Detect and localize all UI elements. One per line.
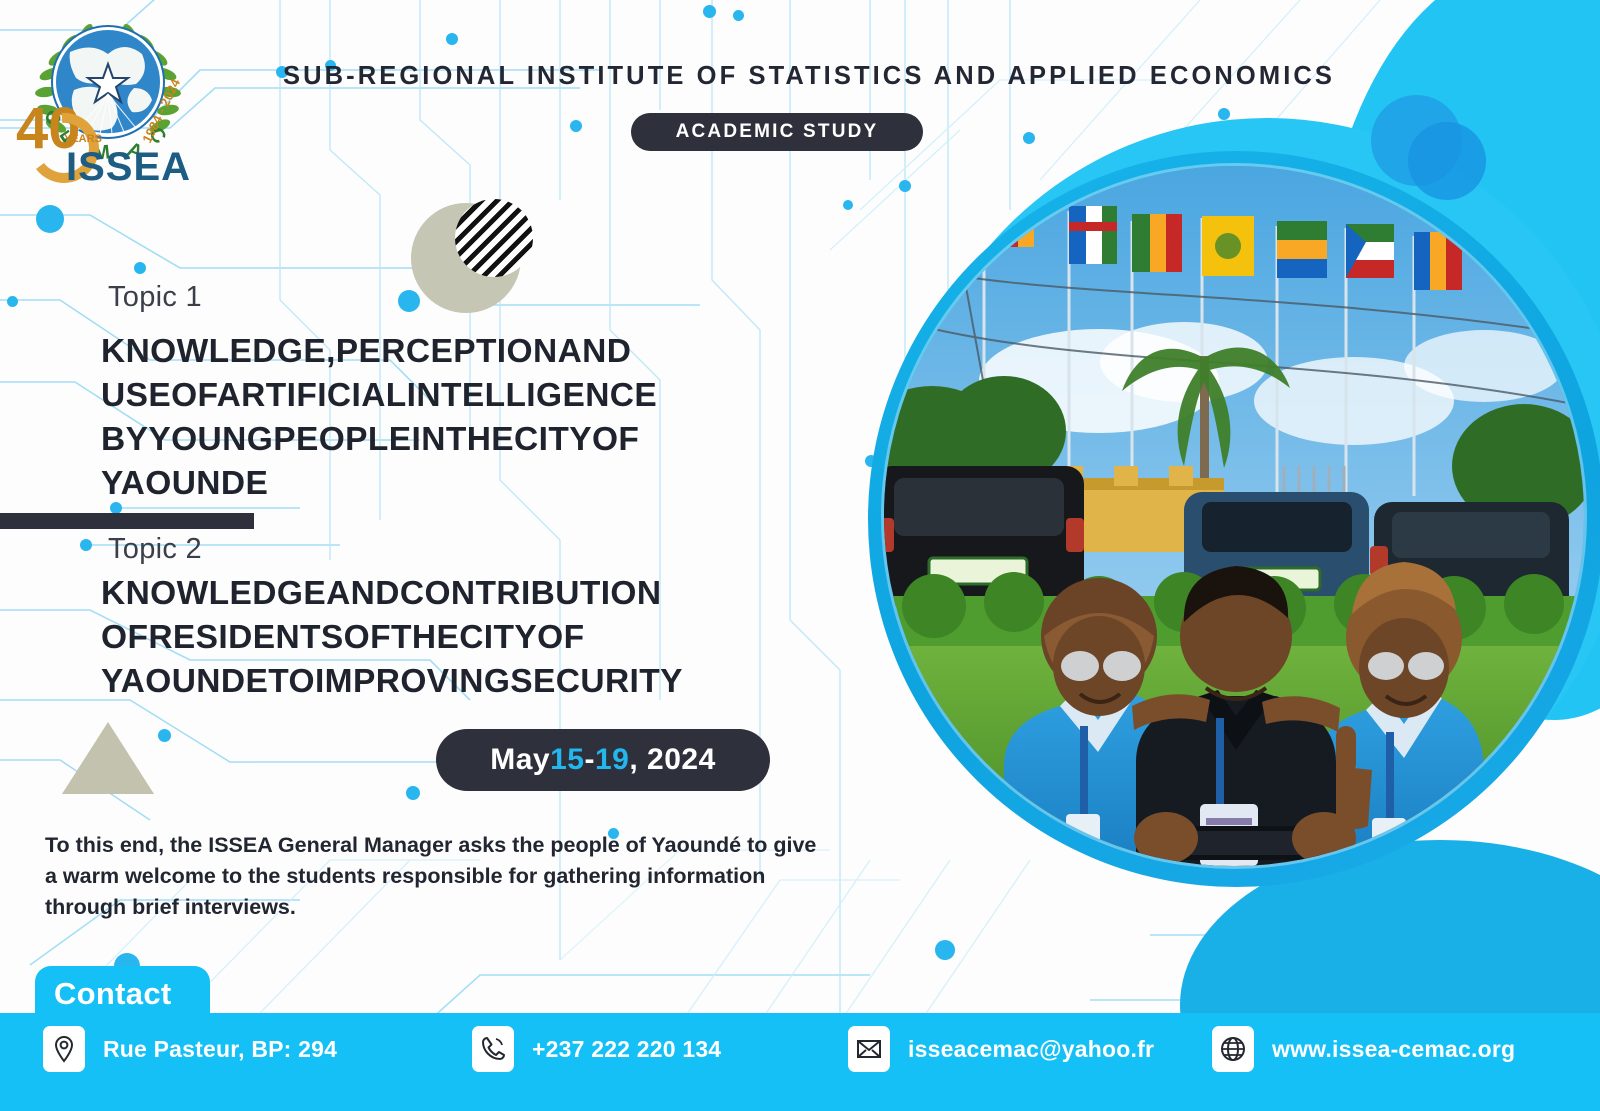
topic-1-line-4: YAOUNDE: [101, 462, 809, 506]
academic-study-badge: ACADEMIC STUDY: [631, 113, 923, 151]
date-year: , 2024: [629, 743, 715, 777]
contact-address-text: Rue Pasteur, BP: 294: [103, 1036, 337, 1063]
decorative-circle-b: [1408, 122, 1486, 200]
circuit-dot: [398, 290, 420, 312]
date-day-start: 15: [550, 743, 584, 777]
topic-2-line-1: KNOWLEDGEANDCONTRIBUTION: [101, 572, 809, 616]
topic-1-line-1: KNOWLEDGE,PERCEPTIONAND: [101, 330, 809, 374]
topic-1-line-2: USEOFARTIFICIALINTELLIGENCE: [101, 374, 809, 418]
circuit-dot: [158, 729, 171, 742]
decorative-striped-circle: [455, 199, 533, 277]
location-pin-icon: [43, 1026, 85, 1072]
topic-2-label: Topic 2: [108, 533, 202, 566]
topic-2-line-3: YAOUNDETOIMPROVINGSECURITY: [101, 660, 809, 704]
circuit-dot: [570, 120, 582, 132]
contact-address: Rue Pasteur, BP: 294: [43, 1026, 337, 1072]
circuit-dot: [733, 10, 744, 21]
circuit-dot: [1023, 132, 1035, 144]
date-separator: -: [584, 743, 595, 777]
logo-anniversary-years: YEARS: [64, 133, 102, 145]
issea-cemac-logo: C E M A C 40 YEARS 1984 - 2024 ISSEA: [8, 8, 208, 183]
contact-phone[interactable]: +237 222 220 134: [472, 1026, 721, 1072]
institute-title: SUB-REGIONAL INSTITUTE OF STATISTICS AND…: [283, 62, 1373, 91]
date-day-end: 19: [595, 743, 629, 777]
topic-1-title: KNOWLEDGE,PERCEPTIONAND USEOFARTIFICIALI…: [101, 330, 809, 506]
circuit-dot: [1218, 108, 1230, 120]
phone-icon: [472, 1026, 514, 1072]
globe-icon: [1212, 1026, 1254, 1072]
body-paragraph: To this end, the ISSEA General Manager a…: [45, 830, 820, 923]
event-photo: [884, 166, 1584, 866]
circuit-dot: [7, 296, 18, 307]
topic-1-label: Topic 1: [108, 281, 202, 314]
contact-phone-text: +237 222 220 134: [532, 1036, 721, 1063]
event-date-badge: May 15 - 19, 2024: [436, 729, 770, 791]
decorative-triangle: [62, 722, 154, 794]
circuit-dot: [935, 940, 955, 960]
circuit-dot: [703, 5, 716, 18]
academic-study-label: ACADEMIC STUDY: [676, 121, 879, 143]
topic-1-line-3: BYYOUNGPEOPLEINTHECITYOF: [101, 418, 809, 462]
circuit-dot: [446, 33, 458, 45]
circuit-dot: [843, 200, 853, 210]
circuit-dot: [134, 262, 146, 274]
contact-email-text: isseacemac@yahoo.fr: [908, 1036, 1154, 1063]
envelope-icon: [848, 1026, 890, 1072]
circuit-dot: [36, 205, 64, 233]
circuit-dot: [406, 786, 420, 800]
circuit-dot: [80, 539, 92, 551]
contact-website[interactable]: www.issea-cemac.org: [1212, 1026, 1515, 1072]
circuit-dot: [899, 180, 911, 192]
contact-website-text: www.issea-cemac.org: [1272, 1036, 1515, 1063]
poster-root: C E M A C 40 YEARS 1984 - 2024 ISSEA SUB…: [0, 0, 1600, 1111]
section-divider-bar: [0, 513, 254, 529]
topic-2-line-2: OFRESIDENTSOFTHECITYOF: [101, 616, 809, 660]
logo-acronym: ISSEA: [66, 145, 191, 183]
contact-email[interactable]: isseacemac@yahoo.fr: [848, 1026, 1154, 1072]
date-month: May: [490, 743, 550, 777]
topic-2-title: KNOWLEDGEANDCONTRIBUTION OFRESIDENTSOFTH…: [101, 572, 809, 704]
contact-label: Contact: [54, 976, 172, 1012]
